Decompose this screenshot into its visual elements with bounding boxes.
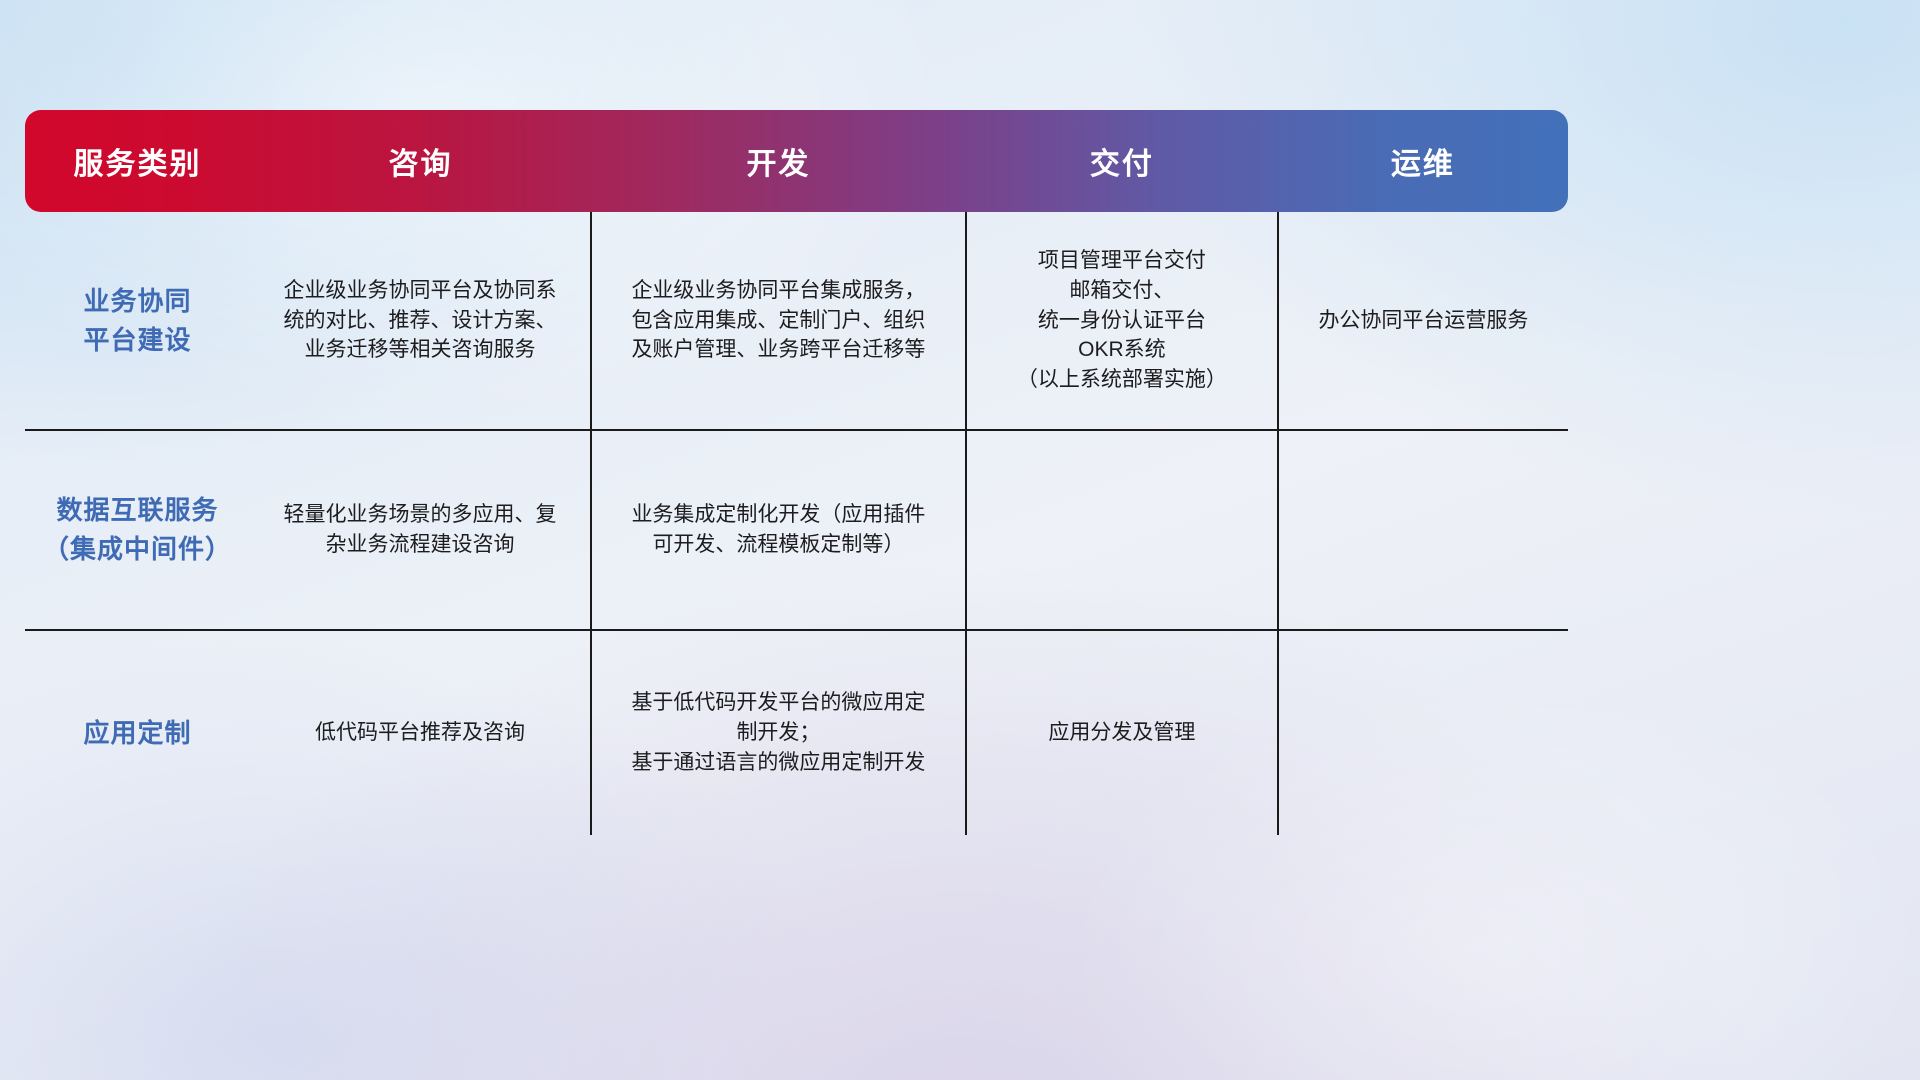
column-header-development-label: 开发 (746, 139, 810, 183)
column-header-consulting: 咨询 (250, 110, 591, 212)
row-1-operations-cell: 办公协同平台运营服务 (1278, 212, 1568, 430)
table-body: 业务协同 平台建设 企业级业务协同平台及协同系 统的对比、推荐、设计方案、 业务… (25, 212, 1568, 835)
table-row: 数据互联服务 （集成中间件） 轻量化业务场景的多应用、复 杂业务流程建设咨询 业… (25, 430, 1568, 630)
row-2-operations-cell (1278, 430, 1568, 630)
row-3-consulting-cell: 低代码平台推荐及咨询 (250, 630, 591, 835)
row-2-development-text: 业务集成定制化开发（应用插件 可开发、流程模板定制等） (631, 503, 925, 556)
row-1-development-cell: 企业级业务协同平台集成服务， 包含应用集成、定制门户、组织 及账户管理、业务跨平… (591, 212, 966, 430)
row-2-category-label: 数据互联服务 （集成中间件） (43, 495, 232, 564)
row-3-delivery-cell: 应用分发及管理 (966, 630, 1278, 835)
row-3-delivery-text: 应用分发及管理 (1048, 721, 1195, 744)
row-3-category-cell: 应用定制 (25, 630, 250, 835)
row-3-development-cell: 基于低代码开发平台的微应用定 制开发； 基于通过语言的微应用定制开发 (591, 630, 966, 835)
row-1-consulting-text: 企业级业务协同平台及协同系 统的对比、推荐、设计方案、 业务迁移等相关咨询服务 (283, 279, 556, 362)
row-2-consulting-cell: 轻量化业务场景的多应用、复 杂业务流程建设咨询 (250, 430, 591, 630)
column-header-operations: 运维 (1278, 110, 1568, 212)
row-3-operations-cell (1278, 630, 1568, 835)
row-1-consulting-cell: 企业级业务协同平台及协同系 统的对比、推荐、设计方案、 业务迁移等相关咨询服务 (250, 212, 591, 430)
table-row: 应用定制 低代码平台推荐及咨询 基于低代码开发平台的微应用定 制开发； 基于通过… (25, 630, 1568, 835)
service-matrix-grid: 业务协同 平台建设 企业级业务协同平台及协同系 统的对比、推荐、设计方案、 业务… (25, 110, 1568, 835)
row-1-operations-text: 办公协同平台运营服务 (1318, 309, 1528, 332)
column-header-development: 开发 (591, 110, 966, 212)
row-1-development-text: 企业级业务协同平台集成服务， 包含应用集成、定制门户、组织 及账户管理、业务跨平… (631, 279, 925, 362)
row-1-category-label: 业务协同 平台建设 (83, 286, 191, 355)
column-header-service-category-label: 服务类别 (73, 139, 201, 183)
row-2-development-cell: 业务集成定制化开发（应用插件 可开发、流程模板定制等） (591, 430, 966, 630)
table-row: 业务协同 平台建设 企业级业务协同平台及协同系 统的对比、推荐、设计方案、 业务… (25, 212, 1568, 430)
row-2-category-cell: 数据互联服务 （集成中间件） (25, 430, 250, 630)
page-background: 服务类别 咨询 开发 交付 运维 (0, 0, 1920, 1080)
row-2-delivery-cell (966, 430, 1278, 630)
column-header-service-category: 服务类别 (25, 110, 250, 212)
column-header-delivery: 交付 (966, 110, 1278, 212)
column-header-consulting-label: 咨询 (388, 139, 452, 183)
row-1-delivery-text: 项目管理平台交付 邮箱交付、 统一身份认证平台 OKR系统 （以上系统部署实施） (1017, 249, 1227, 391)
table-header-row: 服务类别 咨询 开发 交付 运维 (25, 110, 1568, 212)
row-3-category-label: 应用定制 (83, 718, 191, 748)
row-2-consulting-text: 轻量化业务场景的多应用、复 杂业务流程建设咨询 (283, 503, 556, 556)
row-1-category-cell: 业务协同 平台建设 (25, 212, 250, 430)
row-3-consulting-text: 低代码平台推荐及咨询 (315, 721, 525, 744)
column-header-delivery-label: 交付 (1090, 139, 1154, 183)
column-header-operations-label: 运维 (1391, 139, 1455, 183)
row-1-delivery-cell: 项目管理平台交付 邮箱交付、 统一身份认证平台 OKR系统 （以上系统部署实施） (966, 212, 1278, 430)
service-matrix-table: 服务类别 咨询 开发 交付 运维 (25, 110, 1568, 782)
row-3-development-text: 基于低代码开发平台的微应用定 制开发； 基于通过语言的微应用定制开发 (631, 691, 925, 774)
